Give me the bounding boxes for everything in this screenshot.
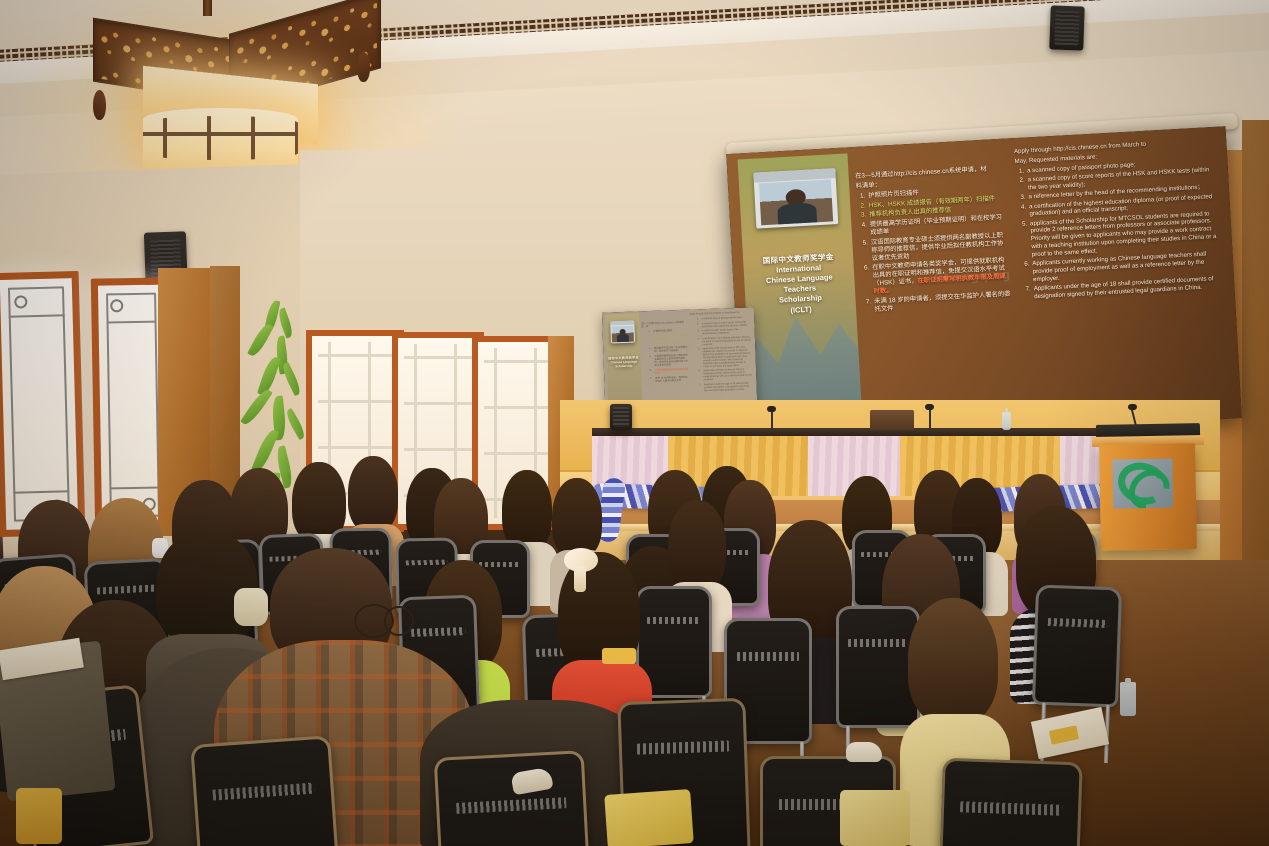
- podium-microphone: [1128, 404, 1140, 428]
- secondary-cn-num: 4.: [642, 347, 651, 354]
- secondary-en-text: a certification of the highest education…: [702, 336, 751, 347]
- presenter-laptop[interactable]: [870, 410, 914, 430]
- secondary-en-num: 5.: [691, 348, 701, 369]
- secondary-cn-text: 未满 18 岁的申请者，须提交在华监护人署名的委托文件: [655, 375, 689, 382]
- secondary-en-text: Applicants currently working as Chinese …: [703, 369, 752, 383]
- en-item-num: 3.: [1016, 194, 1025, 202]
- secondary-cn-text: 护照照片页扫描件: [653, 329, 687, 333]
- secondary-cn-num: 1.: [641, 330, 650, 333]
- table-microphone-right: [924, 404, 936, 428]
- secondary-cn-text: 汉语国际教育专业硕士须提供两名副教授以上职称导师的推荐信，提供毕业后拟任教机构工…: [654, 354, 688, 368]
- secondary-cn-num: 6.: [643, 369, 652, 376]
- chair-foreground[interactable]: [937, 758, 1082, 846]
- cn-item-num: 1.: [856, 193, 865, 202]
- cn-item-num: 3.: [857, 212, 866, 221]
- main-projection-screen: 国际中文教师奖学金 International Chinese Language…: [726, 126, 1242, 445]
- secondary-cn-num: 2.: [642, 335, 651, 342]
- cn-item-num: 6.: [860, 265, 871, 298]
- secondary-en-num: 1.: [690, 318, 699, 321]
- secondary-en-num: 3.: [690, 330, 699, 336]
- cloth-bag: [840, 790, 910, 846]
- secondary-cn-num: 7.: [643, 377, 652, 384]
- slide-english-column: Apply through http://cis.chinese.cn from…: [1014, 137, 1222, 303]
- speaker-podium[interactable]: [1099, 443, 1197, 551]
- secondary-cn-text: HSK、HSKK 成绩报告（有效期两年）扫描件: [653, 333, 687, 340]
- en-item-num: 5.: [1018, 220, 1029, 259]
- slide-content: 国际中文教师奖学金 International Chinese Language…: [726, 126, 1242, 445]
- water-bottle-floor: [1120, 682, 1136, 716]
- chair-foreground[interactable]: [434, 750, 593, 846]
- cn-item-num: 2.: [857, 202, 866, 211]
- secondary-en-text: a scanned copy of score reports of the H…: [702, 321, 751, 329]
- slide-chinese-column: 在3—5月通过http://cis.chinese.cn系统申请，材 料清单： …: [855, 165, 1013, 316]
- secondary-cn-num: 5.: [642, 355, 651, 368]
- secondary-cn-text: 推荐机构负责人出具的推荐信: [654, 341, 688, 345]
- shoe: [846, 742, 882, 762]
- chair-foreground[interactable]: [190, 735, 342, 846]
- secondary-en-num: 6.: [691, 371, 700, 383]
- lantern-rod: [203, 0, 212, 16]
- yellow-handbag: [16, 788, 62, 844]
- secondary-video-thumbnail: [610, 321, 635, 344]
- table-microphone-left: [766, 406, 778, 430]
- yellow-tote-bag: [604, 789, 694, 846]
- lecture-hall-photo: 国际中文教师奖学金 International Chinese Language…: [0, 0, 1269, 846]
- wall-speaker-right: [1049, 5, 1085, 50]
- cn-item-num: 4.: [858, 221, 868, 238]
- lantern-finial-right: [357, 52, 370, 82]
- water-bottle-table: [1002, 412, 1011, 430]
- secondary-cn-intro: 在3—5月通过http://cis.chinese.cn系统申请，材: [641, 321, 687, 329]
- en-item-num: 1.: [1015, 167, 1024, 175]
- en-item-num: 6.: [1020, 261, 1030, 285]
- collar: [602, 648, 636, 664]
- video-call-thumbnail: [754, 168, 838, 229]
- cn-item-num: 5.: [859, 239, 869, 264]
- secondary-en-text: a reference letter by the head of the re…: [702, 329, 751, 337]
- secondary-en-num: 2.: [690, 323, 699, 329]
- en-item-num: 4.: [1017, 203, 1027, 219]
- lantern-grid: [143, 116, 298, 160]
- secondary-en-num: 4.: [690, 338, 699, 347]
- leaded-glass-window-1: [0, 271, 85, 537]
- cn-item-num: 7.: [862, 298, 872, 315]
- secondary-cn-num: 3.: [642, 342, 651, 345]
- lantern-finial-left: [93, 90, 106, 120]
- en-item-num: 7.: [1022, 285, 1032, 301]
- secondary-en-text: Applicants under the age of 18 shall pro…: [704, 382, 753, 393]
- hair-bow-tail: [574, 566, 586, 592]
- head-table-top: [592, 428, 1112, 436]
- green-spiral-emblem: [1113, 458, 1173, 508]
- secondary-en-num: 7.: [692, 384, 701, 393]
- en-item-num: 2.: [1015, 177, 1025, 193]
- secondary-cn-highlight: 在职证明需写明执教年限及周课时数。: [655, 368, 689, 375]
- secondary-cn-text: 提供最高学历证明（毕业预期证明）和在校学习成绩单: [654, 346, 688, 353]
- chair[interactable]: [1032, 585, 1122, 708]
- secondary-en-text: applicants of the Scholarship for MTCSOL…: [703, 347, 752, 370]
- stage-monitor-speaker: [610, 404, 632, 430]
